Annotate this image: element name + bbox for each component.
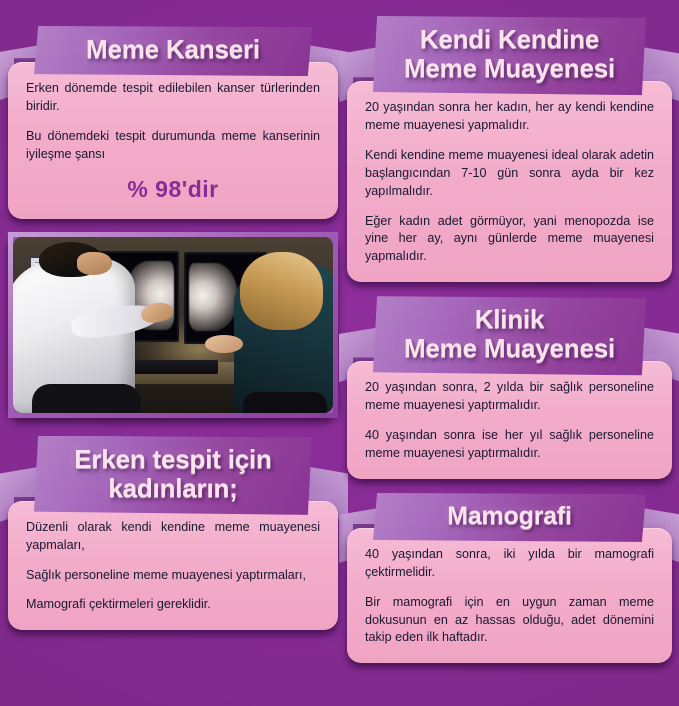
paragraph: Mamografi çektirmeleri gereklidir. — [26, 596, 320, 614]
panel-title: Meme Kanseri — [44, 35, 302, 64]
panel-erken-tespit: Erken tespit için kadınların; Düzenli ol… — [8, 418, 338, 631]
panel-mamografi: Mamografi 40 yaşından sonra, iki yılda b… — [347, 479, 672, 663]
paragraph: 40 yaşından sonra, iki yılda bir mamogra… — [365, 546, 654, 582]
right-column: Kendi Kendine Meme Muayenesi 20 yaşından… — [347, 0, 672, 706]
photo-breast-tissue — [189, 263, 238, 331]
panel-body: Düzenli olarak kendi kendine meme muayen… — [8, 501, 338, 631]
panel-title: Erken tespit için kadınların; — [44, 445, 302, 503]
banner-plate: Kendi Kendine Meme Muayenesi — [373, 16, 646, 95]
paragraph: Düzenli olarak kendi kendine meme muayen… — [26, 519, 320, 555]
photo-patient-hair — [240, 252, 323, 329]
paragraph: 20 yaşından sonra her kadın, her ay kend… — [365, 99, 654, 135]
photo-patient-hand — [205, 335, 243, 353]
banner-plate: Erken tespit için kadınların; — [34, 436, 312, 515]
left-column: Meme Kanseri Erken dönemde tespit edileb… — [8, 0, 338, 706]
banner-klinik: Klinik Meme Muayenesi — [347, 296, 672, 375]
photo-chair-left — [32, 384, 141, 412]
panel-meme-kanseri: Meme Kanseri Erken dönemde tespit edileb… — [8, 0, 338, 219]
paragraph: Bir mamografi için en uygun zaman meme d… — [365, 594, 654, 648]
paragraph: Kendi kendine meme muayenesi ideal olara… — [365, 147, 654, 201]
clinic-photo: R L — [13, 237, 333, 413]
panel-title: Mamografi — [383, 502, 636, 530]
paragraph: Sağlık personeline meme muayenesi yaptır… — [26, 567, 320, 585]
photo-chair-right — [243, 392, 326, 413]
panel-body: 40 yaşından sonra, iki yılda bir mamogra… — [347, 528, 672, 663]
highlight-statistic: % 98'dir — [26, 176, 320, 203]
panel-title: Klinik Meme Muayenesi — [383, 305, 636, 363]
banner-mamografi: Mamografi — [347, 493, 672, 542]
panel-klinik-meme-muayenesi: Klinik Meme Muayenesi 20 yaşından sonra,… — [347, 282, 672, 479]
banner-erken-tespit: Erken tespit için kadınların; — [8, 436, 338, 515]
paragraph: Bu dönemdeki tespit durumunda meme kanse… — [26, 128, 320, 164]
banner-plate: Mamografi — [373, 493, 646, 542]
paragraph: Erken dönemde tespit edilebilen kanser t… — [26, 80, 320, 116]
photo-frame: R L — [8, 232, 338, 418]
panel-body: 20 yaşından sonra, 2 yılda bir sağlık pe… — [347, 361, 672, 479]
panel-body: Erken dönemde tespit edilebilen kanser t… — [8, 62, 338, 219]
paragraph: 20 yaşından sonra, 2 yılda bir sağlık pe… — [365, 379, 654, 415]
paragraph: Eğer kadın adet görmüyor, yani menopozda… — [365, 213, 654, 267]
panel-title: Kendi Kendine Meme Muayenesi — [383, 25, 636, 83]
panel-body: 20 yaşından sonra her kadın, her ay kend… — [347, 81, 672, 282]
paragraph: 40 yaşından sonra ise her yıl sağlık per… — [365, 427, 654, 463]
banner-plate: Meme Kanseri — [34, 26, 312, 76]
panel-kendi-kendine-meme-muayenesi: Kendi Kendine Meme Muayenesi 20 yaşından… — [347, 0, 672, 282]
banner-plate: Klinik Meme Muayenesi — [373, 296, 646, 375]
banner-kendi-kendine: Kendi Kendine Meme Muayenesi — [347, 16, 672, 95]
banner-meme-kanseri: Meme Kanseri — [8, 26, 338, 76]
